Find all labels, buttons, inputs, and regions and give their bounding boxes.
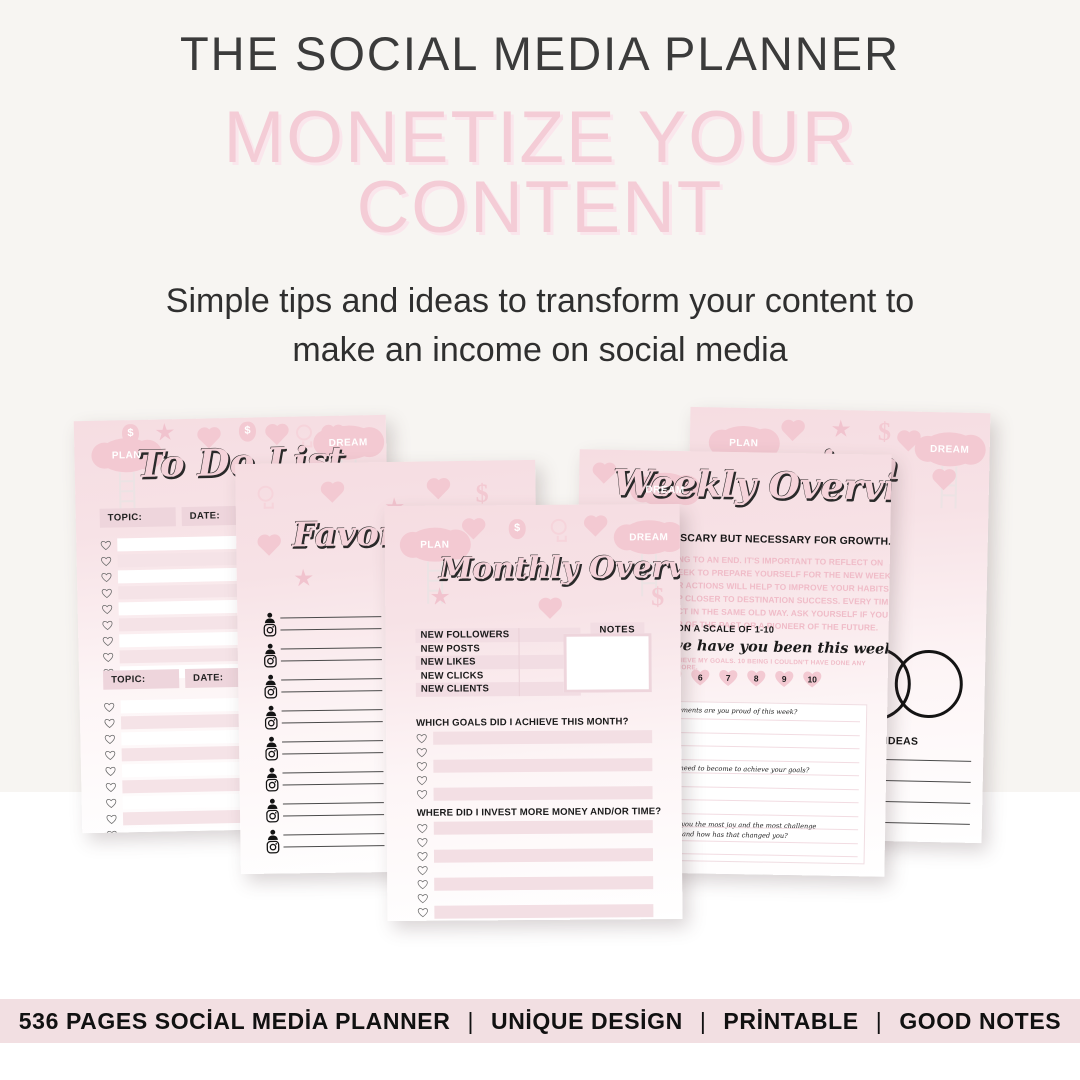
star-icon (156, 425, 174, 440)
scale-label: ON A SCALE OF 1-10 (677, 623, 775, 635)
topic-label: TOPIC: (100, 507, 176, 528)
heart-icon (260, 537, 279, 556)
rule-line[interactable] (672, 839, 858, 843)
favorite-contact-row[interactable] (265, 746, 383, 761)
rating-heart[interactable]: 8 (746, 668, 767, 687)
rating-value: 7 (726, 673, 731, 683)
stats-label: NEW CLIENTS (416, 682, 520, 696)
cloud-label-dream: DREAM (930, 443, 969, 455)
rule-line[interactable] (673, 772, 859, 776)
header: THE SOCIAL MEDIA PLANNER MONETIZE YOUR C… (0, 0, 1080, 376)
footer-banner: 536 PAGES SOCİAL MEDİA PLANNER | UNİQUE … (0, 999, 1080, 1043)
to-do-checkbox[interactable] (106, 797, 117, 808)
answer-write-line[interactable] (433, 758, 652, 773)
to-do-checkbox[interactable] (104, 702, 115, 713)
to-do-checkbox[interactable] (102, 620, 113, 631)
instagram-icon (266, 841, 279, 854)
answer-checkbox[interactable] (417, 893, 428, 904)
star-icon (832, 421, 850, 436)
footer-pages: 536 PAGES SOCİAL MEDİA PLANNER (19, 1008, 451, 1034)
footer-notes: GOOD NOTES (899, 1008, 1061, 1034)
stats-row[interactable]: NEW CLIENTS (416, 682, 581, 697)
answer-row[interactable] (417, 834, 653, 849)
stats-row[interactable]: NEW LIKES (416, 655, 581, 670)
heart-icon (783, 422, 802, 441)
heart-icon (323, 484, 342, 503)
write-line[interactable] (282, 709, 383, 711)
to-do-checkbox[interactable] (105, 766, 116, 777)
instagram-icon (263, 624, 276, 637)
answer-checkbox[interactable] (417, 823, 428, 834)
to-do-checkbox[interactable] (103, 652, 114, 663)
heart-icon (541, 600, 560, 619)
page-title: MONETIZE YOUR CONTENT (0, 103, 1080, 243)
write-line[interactable] (281, 659, 382, 661)
answer-checkbox[interactable] (416, 761, 427, 772)
answer-row[interactable] (417, 904, 653, 919)
to-do-checkbox[interactable] (105, 750, 116, 761)
favorite-contact-row[interactable] (265, 715, 383, 730)
to-do-checkbox[interactable] (105, 782, 116, 793)
instagram-icon (265, 748, 278, 761)
money-bag-icon (509, 519, 526, 539)
monthly-question-2: WHERE DID I INVEST MORE MONEY AND/OR TIM… (417, 806, 662, 819)
favorite-contact-row[interactable] (266, 808, 384, 823)
answer-checkbox[interactable] (417, 851, 428, 862)
write-line[interactable] (282, 740, 383, 742)
cloud-label-dream: DREAM (329, 437, 368, 449)
rating-heart[interactable]: 9 (774, 669, 795, 688)
eyebrow-title: THE SOCIAL MEDIA PLANNER (0, 26, 1080, 81)
footer-banner-text: 536 PAGES SOCİAL MEDİA PLANNER | UNİQUE … (19, 1008, 1061, 1035)
footer-separator: | (457, 1008, 484, 1034)
stats-label: NEW POSTS (416, 642, 520, 656)
rating-value: 10 (807, 674, 817, 684)
cloud-label-plan: PLAN (729, 437, 758, 449)
to-do-checkbox[interactable] (104, 718, 115, 729)
write-line[interactable] (281, 690, 382, 692)
instagram-icon (265, 717, 278, 730)
page-title-monthly-overview: Monthly Overview (439, 550, 683, 587)
rating-value: 9 (782, 674, 787, 684)
favorite-contact-row[interactable] (264, 653, 382, 668)
heart-icon (586, 518, 605, 537)
rule-line[interactable] (673, 758, 859, 762)
rule-line[interactable] (674, 731, 860, 735)
write-line[interactable] (283, 814, 384, 816)
vision-circle-2[interactable] (894, 649, 963, 718)
answer-write-line[interactable] (433, 730, 652, 745)
answer-checkbox[interactable] (416, 747, 427, 758)
heart-icon (429, 480, 448, 499)
write-line[interactable] (283, 802, 384, 804)
subtitle-line-2: make an income on social media (0, 326, 1080, 375)
rule-line[interactable] (674, 718, 860, 722)
write-line[interactable] (282, 721, 383, 723)
answer-write-line[interactable] (434, 786, 653, 801)
write-line[interactable] (281, 647, 382, 649)
answer-row[interactable] (417, 848, 653, 863)
stats-row[interactable]: NEW CLICKS (416, 668, 581, 683)
answer-write-line[interactable] (434, 834, 653, 849)
favorite-contact-row[interactable] (263, 622, 381, 637)
answer-row[interactable] (416, 772, 652, 787)
instagram-icon (266, 779, 279, 792)
answer-row[interactable] (417, 862, 653, 877)
to-do-checkbox[interactable] (100, 540, 111, 551)
lightbulb-icon (257, 486, 273, 502)
subtitle-line-1: Simple tips and ideas to transform your … (166, 282, 914, 320)
answer-row[interactable] (416, 758, 652, 773)
answer-write-line[interactable] (433, 744, 652, 759)
stats-label: NEW CLICKS (416, 669, 520, 683)
footer-design: UNİQUE DESİGN (491, 1008, 683, 1034)
to-do-checkbox[interactable] (102, 604, 113, 615)
headline-line-1: MONETIZE YOUR (223, 97, 856, 178)
weekly-heading: SCARY BUT NECESSARY FOR GROWTH. (680, 533, 891, 548)
headline-line-2: CONTENT (0, 173, 1080, 243)
write-line[interactable] (282, 752, 383, 754)
footer-separator: | (866, 1008, 893, 1034)
answer-row[interactable] (417, 876, 653, 891)
weekly-rule-lines (668, 702, 866, 705)
to-do-checkbox[interactable] (101, 572, 112, 583)
write-line[interactable] (280, 628, 381, 630)
write-line[interactable] (282, 771, 383, 773)
cloud-dream-decoration: DREAM (920, 432, 978, 509)
weekly-prompt-1: vements are you proud of this week? (674, 706, 797, 716)
planner-page-monthly-overview[interactable]: PLAN DREAM $ Monthly Overview NEW FOLLOW… (385, 504, 683, 921)
answer-write-line[interactable] (434, 904, 653, 919)
answer-write-line[interactable] (434, 876, 653, 891)
rating-heart[interactable]: 7 (718, 668, 739, 687)
rating-hearts[interactable]: 5678910 (662, 667, 823, 689)
answer-checkbox[interactable] (417, 879, 428, 890)
footer-printable: PRİNTABLE (723, 1008, 858, 1034)
rating-heart[interactable]: 6 (690, 667, 711, 686)
answer-row[interactable] (416, 744, 652, 759)
to-do-checkbox[interactable] (104, 734, 115, 745)
answer-row[interactable] (417, 820, 653, 835)
subtitle: Simple tips and ideas to transform your … (0, 277, 1080, 376)
answer-write-line[interactable] (434, 862, 653, 877)
instagram-icon (264, 686, 277, 699)
cloud-label-dream: DREAM (645, 484, 684, 496)
answer-row[interactable] (416, 730, 652, 745)
to-do-checkbox[interactable] (106, 813, 117, 824)
footer-separator: | (690, 1008, 717, 1034)
answer-checkbox[interactable] (417, 865, 428, 876)
notes-box[interactable] (563, 633, 651, 693)
rating-value: 6 (698, 672, 703, 682)
cloud-label-plan: PLAN (112, 449, 141, 461)
answer-write-line[interactable] (433, 772, 652, 787)
rating-value: 8 (754, 673, 759, 683)
to-do-checkbox[interactable] (101, 588, 112, 599)
instagram-icon (266, 810, 279, 823)
answer-write-line[interactable] (434, 890, 653, 905)
to-do-checkbox[interactable] (101, 556, 112, 567)
stats-row[interactable]: NEW FOLLOWERS (415, 628, 580, 643)
answer-checkbox[interactable] (416, 775, 427, 786)
write-line[interactable] (281, 678, 382, 680)
topic-label: TOPIC: (103, 669, 179, 690)
stats-label: NEW FOLLOWERS (415, 628, 519, 642)
stats-row[interactable]: NEW POSTS (416, 641, 581, 656)
answer-checkbox[interactable] (417, 907, 428, 918)
favorite-contact-row[interactable] (266, 777, 384, 792)
rule-line[interactable] (674, 745, 860, 749)
answer-write-line[interactable] (434, 820, 653, 835)
monthly-question-1: WHICH GOALS DID I ACHIEVE THIS MONTH? (416, 716, 629, 728)
favorite-contact-row[interactable] (266, 839, 384, 854)
rule-line[interactable] (672, 853, 858, 857)
star-icon (295, 571, 313, 586)
stats-label: NEW LIKES (416, 655, 520, 669)
rule-line[interactable] (673, 799, 859, 803)
rule-line[interactable] (672, 812, 858, 816)
to-do-checkbox[interactable] (102, 636, 113, 647)
scale-question: ve have you been this week? (674, 637, 892, 658)
write-line[interactable] (280, 616, 381, 618)
write-line[interactable] (283, 845, 384, 847)
cloud-label-dream: DREAM (629, 532, 668, 543)
rating-heart[interactable]: 10 (802, 669, 823, 688)
write-line[interactable] (283, 783, 384, 785)
answer-checkbox[interactable] (417, 837, 428, 848)
favorite-contact-row[interactable] (264, 684, 382, 699)
weekly-answer-box[interactable]: vements are you proud of this week? u ne… (665, 701, 868, 864)
heart-icon (595, 465, 614, 484)
write-line[interactable] (283, 833, 384, 835)
weekly-prompt-3-line-2: ek and how has that changed you? (672, 830, 788, 840)
lightbulb-icon (551, 519, 567, 535)
answer-write-line[interactable] (434, 848, 653, 863)
answer-row[interactable] (417, 890, 653, 905)
answer-checkbox[interactable] (417, 789, 428, 800)
cloud-label-plan: PLAN (420, 539, 449, 550)
rule-line[interactable] (673, 785, 859, 789)
answer-checkbox[interactable] (416, 733, 427, 744)
dollar-icon: $ (475, 479, 488, 509)
answer-row[interactable] (417, 786, 653, 801)
monthly-stats-table[interactable]: NEW FOLLOWERSNEW POSTSNEW LIKESNEW CLICK… (415, 628, 580, 697)
instagram-icon (264, 655, 277, 668)
